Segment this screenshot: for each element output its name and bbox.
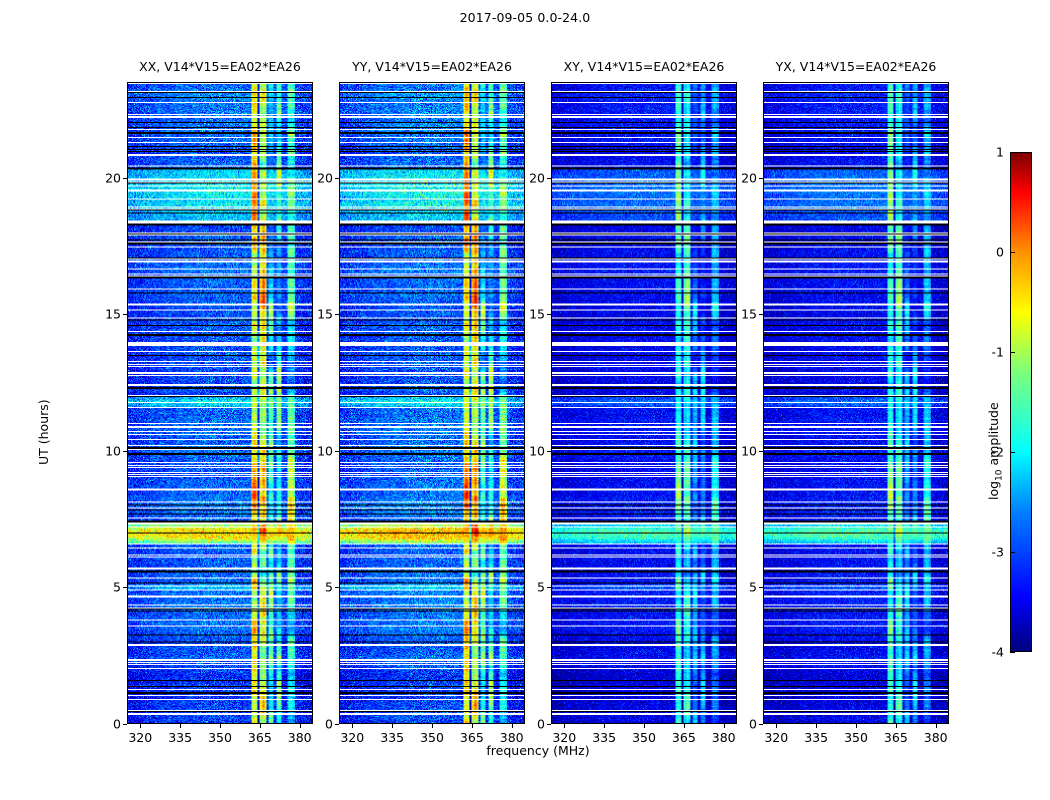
y-tick-label: 15 — [87, 307, 121, 322]
y-tick-label: 10 — [299, 443, 333, 458]
colorbar-tick-mark — [1010, 252, 1015, 253]
colorbar-tick-label: 1 — [976, 145, 1004, 160]
x-axis-label: frequency (MHz) — [127, 743, 949, 758]
y-tick-label: 0 — [723, 717, 757, 732]
colorbar-label-suffix: amplitude — [986, 402, 1001, 469]
x-tick-mark — [776, 724, 777, 728]
colorbar-label: log10 amplitude — [986, 402, 1005, 500]
y-tick-mark — [547, 587, 551, 588]
y-tick-mark — [547, 178, 551, 179]
figure-canvas: 2017-09-05 0.0-24.0 XX, V14*V15=EA02*EA2… — [0, 0, 1050, 800]
colorbar-tick-label: -3 — [976, 545, 1004, 560]
panel-title-yy: YY, V14*V15=EA02*EA26 — [339, 59, 525, 77]
y-tick-mark — [335, 178, 339, 179]
y-tick-mark — [547, 451, 551, 452]
y-tick-mark — [547, 314, 551, 315]
y-tick-mark — [335, 724, 339, 725]
y-tick-label: 15 — [723, 307, 757, 322]
y-tick-label: 20 — [299, 170, 333, 185]
x-tick-mark — [140, 724, 141, 728]
y-tick-label: 5 — [87, 580, 121, 595]
colorbar-tick-mark — [1010, 352, 1015, 353]
y-tick-mark — [123, 314, 127, 315]
panel-title-yx: YX, V14*V15=EA02*EA26 — [763, 59, 949, 77]
y-tick-label: 0 — [511, 717, 545, 732]
x-tick-mark — [644, 724, 645, 728]
colorbar-tick-mark — [1010, 452, 1015, 453]
x-tick-mark — [684, 724, 685, 728]
y-tick-label: 5 — [723, 580, 757, 595]
y-tick-mark — [123, 451, 127, 452]
y-tick-mark — [123, 724, 127, 725]
y-tick-label: 0 — [299, 717, 333, 732]
waterfall-image-yy — [340, 83, 524, 723]
colorbar[interactable] — [1010, 152, 1032, 652]
x-tick-mark — [220, 724, 221, 728]
y-tick-label: 5 — [299, 580, 333, 595]
y-tick-mark — [759, 314, 763, 315]
waterfall-panel-yx[interactable] — [763, 82, 949, 724]
y-tick-label: 20 — [723, 170, 757, 185]
y-tick-mark — [547, 724, 551, 725]
y-tick-label: 10 — [723, 443, 757, 458]
waterfall-panel-yy[interactable] — [339, 82, 525, 724]
x-tick-mark — [432, 724, 433, 728]
y-tick-label: 10 — [87, 443, 121, 458]
y-tick-label: 20 — [511, 170, 545, 185]
colorbar-label-sub: 10 — [995, 469, 1005, 480]
colorbar-tick-label: -1 — [976, 345, 1004, 360]
colorbar-tick-mark — [1010, 552, 1015, 553]
y-tick-mark — [759, 178, 763, 179]
x-tick-mark — [604, 724, 605, 728]
y-tick-mark — [759, 451, 763, 452]
colorbar-tick-mark — [1010, 652, 1015, 653]
colorbar-tick-label: -4 — [976, 645, 1004, 660]
y-tick-label: 0 — [87, 717, 121, 732]
x-tick-mark — [472, 724, 473, 728]
y-tick-mark — [123, 178, 127, 179]
x-tick-mark — [564, 724, 565, 728]
waterfall-image-yx — [764, 83, 948, 723]
colorbar-label-prefix: log — [986, 481, 1001, 500]
y-tick-label: 20 — [87, 170, 121, 185]
y-tick-mark — [335, 451, 339, 452]
x-tick-mark — [352, 724, 353, 728]
y-tick-mark — [759, 724, 763, 725]
x-tick-mark — [180, 724, 181, 728]
waterfall-panel-xx[interactable] — [127, 82, 313, 724]
waterfall-image-xx — [128, 83, 312, 723]
x-tick-mark — [816, 724, 817, 728]
x-tick-mark — [896, 724, 897, 728]
x-tick-mark — [260, 724, 261, 728]
figure-suptitle: 2017-09-05 0.0-24.0 — [0, 10, 1050, 25]
y-tick-mark — [759, 587, 763, 588]
x-tick-mark — [936, 724, 937, 728]
waterfall-image-xy — [552, 83, 736, 723]
y-axis-label: UT (hours) — [36, 399, 51, 465]
colorbar-tick-mark — [1010, 152, 1015, 153]
y-tick-mark — [335, 587, 339, 588]
y-tick-label: 15 — [511, 307, 545, 322]
x-tick-mark — [392, 724, 393, 728]
x-tick-mark — [856, 724, 857, 728]
y-tick-mark — [335, 314, 339, 315]
y-tick-label: 10 — [511, 443, 545, 458]
colorbar-tick-label: 0 — [976, 245, 1004, 260]
y-tick-mark — [123, 587, 127, 588]
panel-title-xy: XY, V14*V15=EA02*EA26 — [551, 59, 737, 77]
waterfall-panel-xy[interactable] — [551, 82, 737, 724]
panel-title-xx: XX, V14*V15=EA02*EA26 — [127, 59, 313, 77]
y-tick-label: 15 — [299, 307, 333, 322]
y-tick-label: 5 — [511, 580, 545, 595]
